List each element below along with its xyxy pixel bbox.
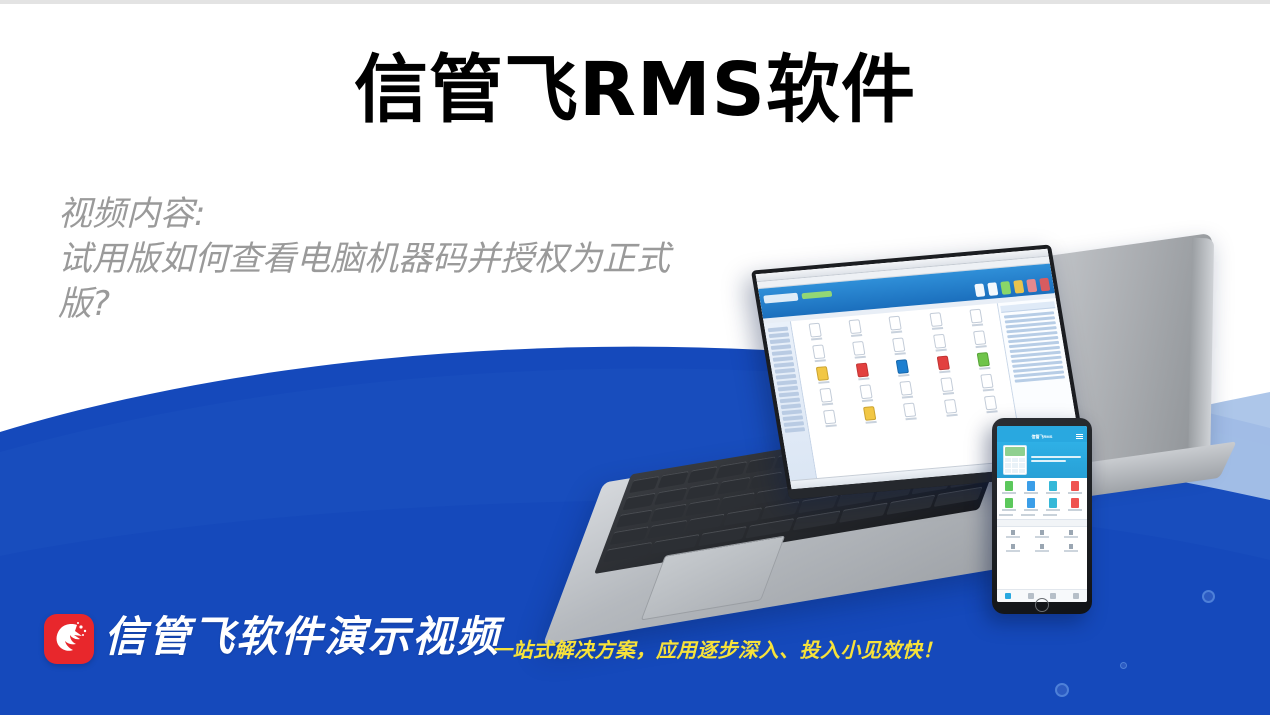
desktop-icon[interactable]: [960, 329, 1000, 349]
phone-banner-text: [1031, 456, 1081, 464]
hamburger-icon[interactable]: [1076, 434, 1083, 439]
phone-app-header: 信管飞RMS: [997, 431, 1087, 442]
sidebar-item[interactable]: [774, 362, 795, 368]
phone-stat-item: [999, 530, 1026, 538]
dove-flame-logo-icon: [44, 614, 94, 664]
sidebar-item[interactable]: [782, 409, 803, 415]
brand-title: 信管飞软件演示视频: [104, 616, 500, 658]
phone-tab-profile[interactable]: [1065, 590, 1088, 602]
phone-stat-item: [1058, 530, 1085, 538]
brand-tagline: 一站式解决方案，应用逐步深入、投入小见效快！: [492, 634, 943, 663]
desktop-icon[interactable]: [967, 373, 1007, 393]
phone-app-tile[interactable]: [1065, 498, 1085, 511]
smartphone: 信管飞RMS: [992, 418, 1092, 614]
phone-app-tile[interactable]: [1043, 498, 1063, 511]
phone-app-tile[interactable]: [1043, 481, 1063, 494]
desktop-icon[interactable]: [916, 311, 956, 331]
desktop-icon[interactable]: [847, 383, 887, 403]
page-title: 信管飞RMS软件: [0, 52, 1270, 130]
desktop-icon[interactable]: [927, 376, 967, 396]
phone-tab-home[interactable]: [997, 590, 1020, 602]
phone-stat-item: [999, 544, 1026, 552]
desktop-icon[interactable]: [923, 354, 963, 374]
phone-app-tile[interactable]: [999, 514, 1019, 516]
sidebar-item[interactable]: [779, 392, 800, 398]
sidebar-item[interactable]: [773, 356, 794, 362]
new-icon[interactable]: [974, 283, 985, 297]
desktop-icon[interactable]: [876, 315, 916, 335]
desktop-icon[interactable]: [799, 343, 839, 363]
phone-stat-item: [1058, 544, 1085, 552]
desktop-icon[interactable]: [920, 333, 960, 353]
desktop-icon[interactable]: [963, 351, 1003, 371]
phone-section-header: [997, 519, 1087, 527]
phone-stat-item: [1028, 544, 1055, 552]
app-logo-icon: [763, 293, 798, 304]
video-content-label: 视频内容:: [58, 192, 718, 237]
sidebar-item[interactable]: [783, 415, 804, 421]
open-icon[interactable]: [987, 282, 998, 296]
desktop-icon[interactable]: [879, 336, 919, 356]
desktop-icon[interactable]: [883, 358, 923, 378]
phone-app-tile[interactable]: [1065, 481, 1085, 494]
phone-app-tile[interactable]: [1043, 514, 1063, 516]
app-brand-label: [801, 291, 832, 300]
save-icon[interactable]: [1000, 281, 1011, 295]
sidebar-item[interactable]: [781, 403, 802, 409]
sidebar-item[interactable]: [784, 421, 805, 427]
print-icon[interactable]: [1013, 280, 1024, 294]
sidebar-item[interactable]: [772, 350, 793, 356]
desktop-icon[interactable]: [843, 361, 883, 381]
sidebar-item[interactable]: [777, 380, 798, 386]
phone-app-grid-row1: [997, 478, 1087, 514]
sidebar-item[interactable]: [771, 344, 792, 350]
desktop-icon[interactable]: [803, 365, 843, 385]
phone-app-title: 信管飞RMS: [1032, 434, 1053, 440]
desktop-icon[interactable]: [887, 380, 927, 400]
sidebar-item[interactable]: [769, 332, 790, 338]
desktop-icon[interactable]: [931, 398, 971, 418]
slide-stage: 信管飞RMS软件 视频内容: 试用版如何查看电脑机器码并授权为正式版?: [0, 0, 1270, 715]
desktop-icon[interactable]: [956, 308, 996, 328]
phone-clock: [1000, 427, 1001, 430]
sidebar-item[interactable]: [770, 338, 791, 344]
phone-screen: 信管飞RMS: [997, 426, 1087, 602]
phone-stats-grid: [997, 527, 1087, 555]
sidebar-item[interactable]: [776, 374, 797, 380]
desktop-icon[interactable]: [796, 322, 836, 342]
sidebar-item[interactable]: [768, 327, 789, 333]
phone-app-tile[interactable]: [999, 498, 1019, 511]
phone-promo-banner: [997, 442, 1087, 478]
phone-signal-icon: [1083, 427, 1084, 430]
sidebar-item[interactable]: [785, 427, 806, 433]
desktop-icon[interactable]: [971, 394, 1011, 414]
desktop-icon[interactable]: [890, 401, 930, 421]
desktop-icon[interactable]: [806, 387, 846, 407]
app-desktop-canvas: [791, 303, 1023, 479]
sidebar-item[interactable]: [775, 368, 796, 374]
exit-icon[interactable]: [1039, 278, 1050, 292]
phone-stat-item: [1028, 530, 1055, 538]
device-showcase: 信管飞RMS: [560, 250, 1270, 650]
phone-banner-device-icon: [1003, 445, 1027, 475]
desktop-icon[interactable]: [836, 318, 876, 338]
desktop-icon[interactable]: [839, 340, 879, 360]
phone-home-button[interactable]: [1035, 598, 1049, 612]
phone-app-tile[interactable]: [1021, 514, 1041, 516]
desktop-icon-grid: [796, 308, 1011, 429]
sidebar-item[interactable]: [778, 386, 799, 392]
sidebar-item[interactable]: [780, 398, 801, 404]
decorative-dot-2: [1202, 590, 1215, 603]
phone-app-tile[interactable]: [999, 481, 1019, 494]
export-icon[interactable]: [1026, 279, 1037, 293]
back-laptop-lid-edge: [1188, 238, 1214, 461]
desktop-icon[interactable]: [810, 408, 850, 428]
phone-app-tile[interactable]: [1021, 481, 1041, 494]
app-toolbar[interactable]: [974, 278, 1050, 297]
phone-app-tile[interactable]: [1021, 498, 1041, 511]
desktop-icon[interactable]: [850, 405, 890, 425]
